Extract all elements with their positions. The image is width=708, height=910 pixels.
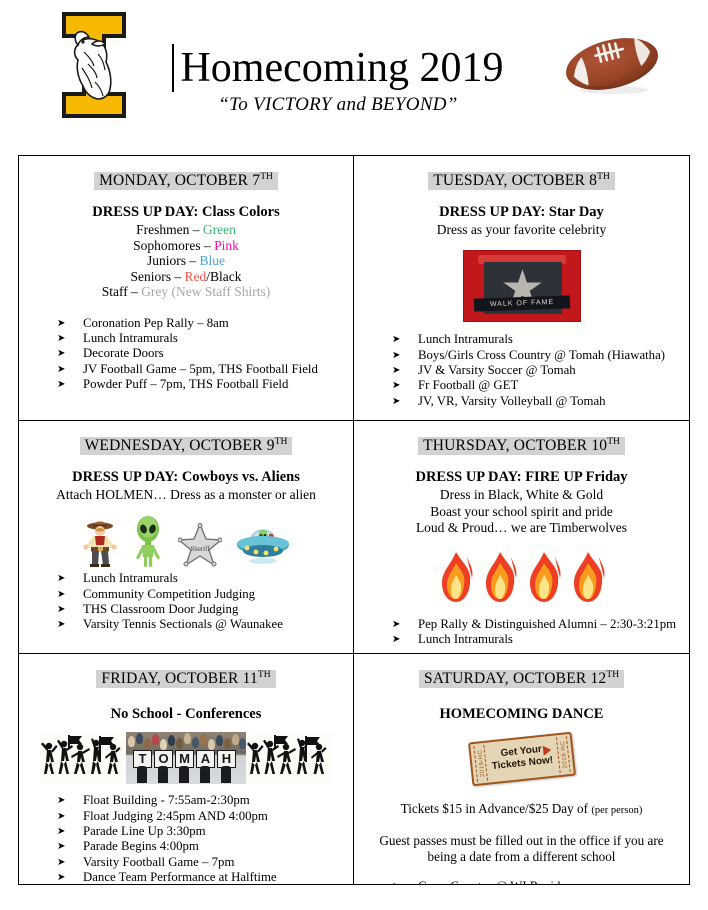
- ordinal-suffix: TH: [606, 670, 619, 680]
- flame-icon: [524, 551, 564, 603]
- guest-pass-note: Guest passes must be filled out in the o…: [362, 833, 681, 865]
- cheerleader-silhouettes-icon: [246, 733, 332, 783]
- ordinal-suffix: TH: [275, 437, 288, 447]
- homecoming-dance-title: HOMECOMING DANCE: [362, 706, 681, 723]
- page-tagline: “To VICTORY and BEYOND”: [128, 93, 548, 117]
- class-color-row: Seniors – Red/Black: [27, 269, 345, 285]
- list-item: Fr Football @ GET: [392, 378, 681, 393]
- class-color-row: Freshmen – Green: [27, 222, 345, 238]
- dress-up-title-thursday: DRESS UP DAY: FIRE UP Friday: [362, 469, 681, 486]
- flame-icon: [480, 551, 520, 603]
- dress-up-title-wednesday: DRESS UP DAY: Cowboys vs. Aliens: [27, 469, 345, 486]
- title-block: Homecoming 2019 “To VICTORY and BEYOND”: [128, 44, 548, 117]
- per-person-note: (per person): [591, 805, 642, 816]
- guest-pass-line-2: being a date from a different school: [362, 849, 681, 865]
- no-school-notice: No School - Conferences: [27, 706, 345, 723]
- ticket-icon: 2019-HC 2019-HC Get Your Tickets Now!: [467, 732, 575, 787]
- day-cell-wednesday: WEDNESDAY, OCTOBER 9TH DRESS UP DAY: Cow…: [19, 421, 354, 654]
- sheriff-badge-label: Sheriff: [190, 545, 210, 553]
- ordinal-suffix: TH: [597, 172, 610, 182]
- day-cell-monday: MONDAY, OCTOBER 7TH DRESS UP DAY: Class …: [19, 156, 354, 421]
- day-heading-text: WEDNESDAY, OCTOBER 9: [85, 437, 275, 454]
- sheriff-badge-icon: Sheriff: [178, 523, 222, 567]
- list-item: Varsity Football Game – 7pm: [57, 855, 345, 870]
- cowboy-icon: [82, 515, 118, 567]
- color-value-red: Red: [185, 269, 207, 284]
- day-heading-monday: MONDAY, OCTOBER 7TH: [27, 172, 345, 190]
- flames-art: [362, 548, 681, 603]
- day-heading-text: TUESDAY, OCTOBER 8: [433, 172, 597, 189]
- event-list-wednesday: Lunch Intramurals Community Competition …: [27, 571, 345, 633]
- event-list-saturday: Cross Country @ WI Rapids: [362, 879, 681, 884]
- event-list-thursday: Pep Rally & Distinguished Alumni – 2:30-…: [362, 617, 681, 648]
- ticket-stub-left: 2019-HC: [473, 745, 488, 782]
- list-item: JV Football Game – 5pm, THS Football Fie…: [57, 362, 345, 377]
- list-item: Lunch Intramurals: [57, 331, 345, 346]
- list-item: Parade Line Up 3:30pm: [57, 824, 345, 839]
- list-item: Parade Begins 4:00pm: [57, 839, 345, 854]
- color-value-grey: Grey (New Staff Shirts): [141, 284, 270, 299]
- list-item: Varsity Tennis Sectionals @ Waunakee: [57, 617, 345, 632]
- flyer-header: Homecoming 2019 “To VICTORY and BEYOND”: [0, 0, 708, 152]
- class-color-row: Staff – Grey (New Staff Shirts): [27, 284, 345, 300]
- day-heading-tuesday: TUESDAY, OCTOBER 8TH: [362, 172, 681, 190]
- list-item: THS Classroom Door Judging: [57, 602, 345, 617]
- dress-up-subtitle-wednesday: Attach HOLMEN… Dress as a monster or ali…: [27, 487, 345, 503]
- dress-line-1: Dress in Black, White & Gold: [362, 487, 681, 503]
- list-item: Boys/Girls Cross Country @ Tomah (Hiawat…: [392, 348, 681, 363]
- flame-icon: [568, 551, 608, 603]
- day-heading-text: SATURDAY, OCTOBER 12: [424, 670, 606, 687]
- list-item: Community Competition Judging: [57, 587, 345, 602]
- flame-icon: [436, 551, 476, 603]
- day-heading-friday: FRIDAY, OCTOBER 11TH: [27, 670, 345, 688]
- day-heading-text: FRIDAY, OCTOBER 11: [101, 670, 258, 687]
- day-cell-friday: FRIDAY, OCTOBER 11TH No School - Confere…: [19, 654, 354, 884]
- guest-pass-line-1: Guest passes must be filled out in the o…: [362, 833, 681, 849]
- list-item: Float Building - 7:55am-2:30pm: [57, 793, 345, 808]
- day-heading-text: THURSDAY, OCTOBER 10: [423, 437, 607, 454]
- ordinal-suffix: TH: [258, 670, 271, 680]
- play-arrow-icon: [542, 745, 551, 756]
- list-item: Coronation Pep Rally – 8am: [57, 316, 345, 331]
- cheerleader-silhouettes-icon: [40, 733, 126, 783]
- list-item: Lunch Intramurals: [392, 332, 681, 347]
- alien-icon: [132, 515, 164, 567]
- class-color-row: Sophomores – Pink: [27, 238, 345, 254]
- dress-line-2: Boast your school spirit and pride: [362, 504, 681, 520]
- list-item: Lunch Intramurals: [392, 632, 681, 647]
- tomah-sign-photo: T O M A H: [126, 732, 246, 784]
- day-cell-saturday: SATURDAY, OCTOBER 12TH HOMECOMING DANCE …: [354, 654, 689, 884]
- ticket-stub-right: 2019-HC: [555, 736, 570, 773]
- day-heading-saturday: SATURDAY, OCTOBER 12TH: [362, 670, 681, 688]
- color-value-green: Green: [203, 222, 236, 237]
- list-item: Cross Country @ WI Rapids: [392, 879, 681, 884]
- day-heading-text: MONDAY, OCTOBER 7: [99, 172, 260, 189]
- dress-up-subtitle-tuesday: Dress as your favorite celebrity: [362, 222, 681, 238]
- school-logo: [48, 6, 140, 124]
- list-item: Powder Puff – 7pm, THS Football Field: [57, 377, 345, 392]
- class-color-row: Juniors – Blue: [27, 253, 345, 269]
- dress-line-3: Loud & Proud… we are Timberwolves: [362, 520, 681, 536]
- football-icon: [562, 30, 662, 96]
- day-heading-thursday: THURSDAY, OCTOBER 10TH: [362, 437, 681, 455]
- day-cell-thursday: THURSDAY, OCTOBER 10TH DRESS UP DAY: FIR…: [354, 421, 689, 654]
- list-item: Lunch Intramurals: [57, 571, 345, 586]
- dress-up-title-monday: DRESS UP DAY: Class Colors: [27, 204, 345, 221]
- list-item: JV & Varsity Soccer @ Tomah: [392, 363, 681, 378]
- ticket-art: 2019-HC 2019-HC Get Your Tickets Now!: [362, 737, 681, 787]
- day-cell-tuesday: TUESDAY, OCTOBER 8TH DRESS UP DAY: Star …: [354, 156, 689, 421]
- color-value-blue: Blue: [200, 253, 226, 268]
- day-heading-wednesday: WEDNESDAY, OCTOBER 9TH: [27, 437, 345, 455]
- friday-art: T O M A H: [27, 731, 345, 785]
- walk-of-fame-star-image: WALK OF FAME: [463, 250, 581, 322]
- list-item: Float Judging 2:45pm AND 4:00pm: [57, 809, 345, 824]
- event-list-monday: Coronation Pep Rally – 8am Lunch Intramu…: [27, 316, 345, 393]
- cowboys-vs-aliens-art: Sheriff: [27, 513, 345, 567]
- event-list-friday: Float Building - 7:55am-2:30pm Float Jud…: [27, 793, 345, 884]
- ordinal-suffix: TH: [260, 172, 273, 182]
- timberwolves-t-logo-icon: [48, 6, 140, 124]
- ufo-icon: [236, 521, 290, 567]
- ticket-price-line: Tickets $15 in Advance/$25 Day of (per p…: [362, 801, 681, 819]
- list-item: Pep Rally & Distinguished Alumni – 2:30-…: [392, 617, 681, 632]
- list-item: JV, VR, Varsity Volleyball @ Tomah: [392, 394, 681, 409]
- ordinal-suffix: TH: [607, 437, 620, 447]
- list-item: Decorate Doors: [57, 346, 345, 361]
- event-list-tuesday: Lunch Intramurals Boys/Girls Cross Count…: [362, 332, 681, 409]
- week-schedule-table: MONDAY, OCTOBER 7TH DRESS UP DAY: Class …: [18, 155, 690, 885]
- dress-up-title-tuesday: DRESS UP DAY: Star Day: [362, 204, 681, 221]
- page-title: Homecoming 2019: [172, 44, 503, 92]
- list-item: Dance Team Performance at Halftime: [57, 870, 345, 884]
- class-colors-list: Freshmen – Green Sophomores – Pink Junio…: [27, 222, 345, 300]
- homecoming-flyer: Homecoming 2019 “To VICTORY and BEYOND”: [0, 0, 708, 910]
- color-value-pink: Pink: [214, 238, 239, 253]
